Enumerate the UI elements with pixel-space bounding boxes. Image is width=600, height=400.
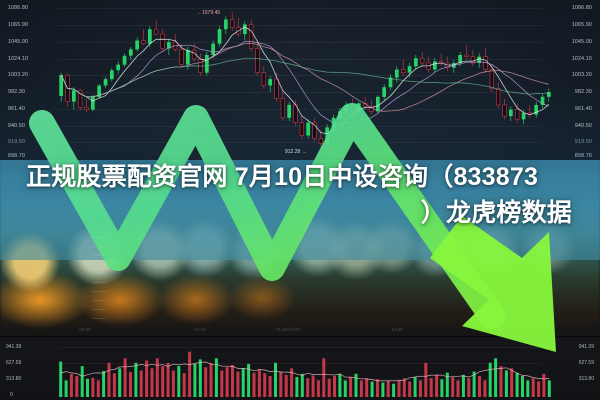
page-title: 正规股票配资官网 7月10日中设咨询（833873 ）龙虎榜数据 [26, 160, 582, 231]
price-axis-left-9: 898.70 [8, 153, 25, 159]
low-price-annotation: 912.29 → [285, 149, 307, 155]
page-title-line1: 正规股票配资官网 7月10日中设咨询（833873 [26, 163, 538, 191]
page-title-line2: ）龙虎榜数据 [26, 196, 582, 232]
ghost-scale-ticks [92, 228, 106, 320]
price-axis-right-9: 898.70 [575, 153, 592, 159]
arrow-head-icon [430, 216, 556, 352]
screenshot-stage: 1086.80 1065.90 1045.00 1024.10 1003.20 … [0, 0, 600, 400]
